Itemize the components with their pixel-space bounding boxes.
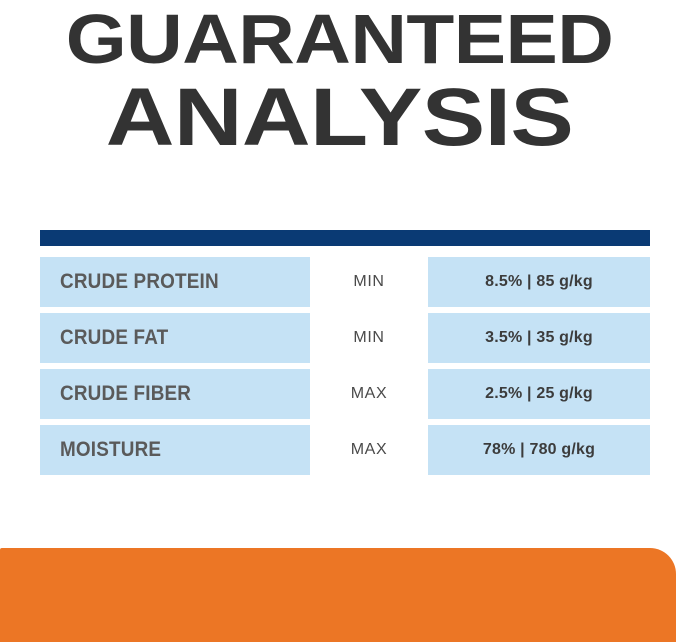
nutrient-value-cell: 3.5% | 35 g/kg [428,313,650,363]
nutrient-label-cell: CRUDE PROTEIN [40,257,310,307]
qualifier-label: MAX [351,385,387,403]
guaranteed-analysis-panel: GUARANTEED ANALYSIS CRUDE PROTEIN MIN 8.… [0,0,679,642]
qualifier-cell: MIN [310,257,428,307]
page-title: GUARANTEED ANALYSIS [0,0,679,160]
nutrient-label: CRUDE FIBER [60,382,191,406]
nutrient-label: CRUDE FAT [60,326,168,350]
qualifier-cell: MAX [310,369,428,419]
nutrient-value-cell: 8.5% | 85 g/kg [428,257,650,307]
qualifier-label: MIN [353,273,384,291]
qualifier-cell: MAX [310,425,428,475]
page-title-line-2: ANALYSIS [0,76,679,160]
nutrient-value-cell: 2.5% | 25 g/kg [428,369,650,419]
orange-footer-band [0,548,676,642]
page-title-line-1: GUARANTEED [0,2,679,76]
nutrient-label-cell: CRUDE FAT [40,313,310,363]
table-body: CRUDE PROTEIN MIN 8.5% | 85 g/kg CRUDE F… [40,257,650,475]
table-header-bar [40,230,650,246]
nutrient-label: MOISTURE [60,438,161,462]
nutrient-value: 8.5% | 85 g/kg [485,273,593,291]
table-row: CRUDE FIBER MAX 2.5% | 25 g/kg [40,369,650,419]
nutrient-label: CRUDE PROTEIN [60,270,219,294]
nutrient-value: 2.5% | 25 g/kg [485,385,593,403]
nutrient-value-cell: 78% | 780 g/kg [428,425,650,475]
qualifier-label: MAX [351,441,387,459]
table-row: CRUDE PROTEIN MIN 8.5% | 85 g/kg [40,257,650,307]
guaranteed-analysis-table: CRUDE PROTEIN MIN 8.5% | 85 g/kg CRUDE F… [40,230,650,475]
nutrient-value: 3.5% | 35 g/kg [485,329,593,347]
nutrient-label-cell: CRUDE FIBER [40,369,310,419]
table-row: CRUDE FAT MIN 3.5% | 35 g/kg [40,313,650,363]
qualifier-label: MIN [353,329,384,347]
nutrient-label-cell: MOISTURE [40,425,310,475]
table-row: MOISTURE MAX 78% | 780 g/kg [40,425,650,475]
nutrient-value: 78% | 780 g/kg [483,441,595,459]
qualifier-cell: MIN [310,313,428,363]
